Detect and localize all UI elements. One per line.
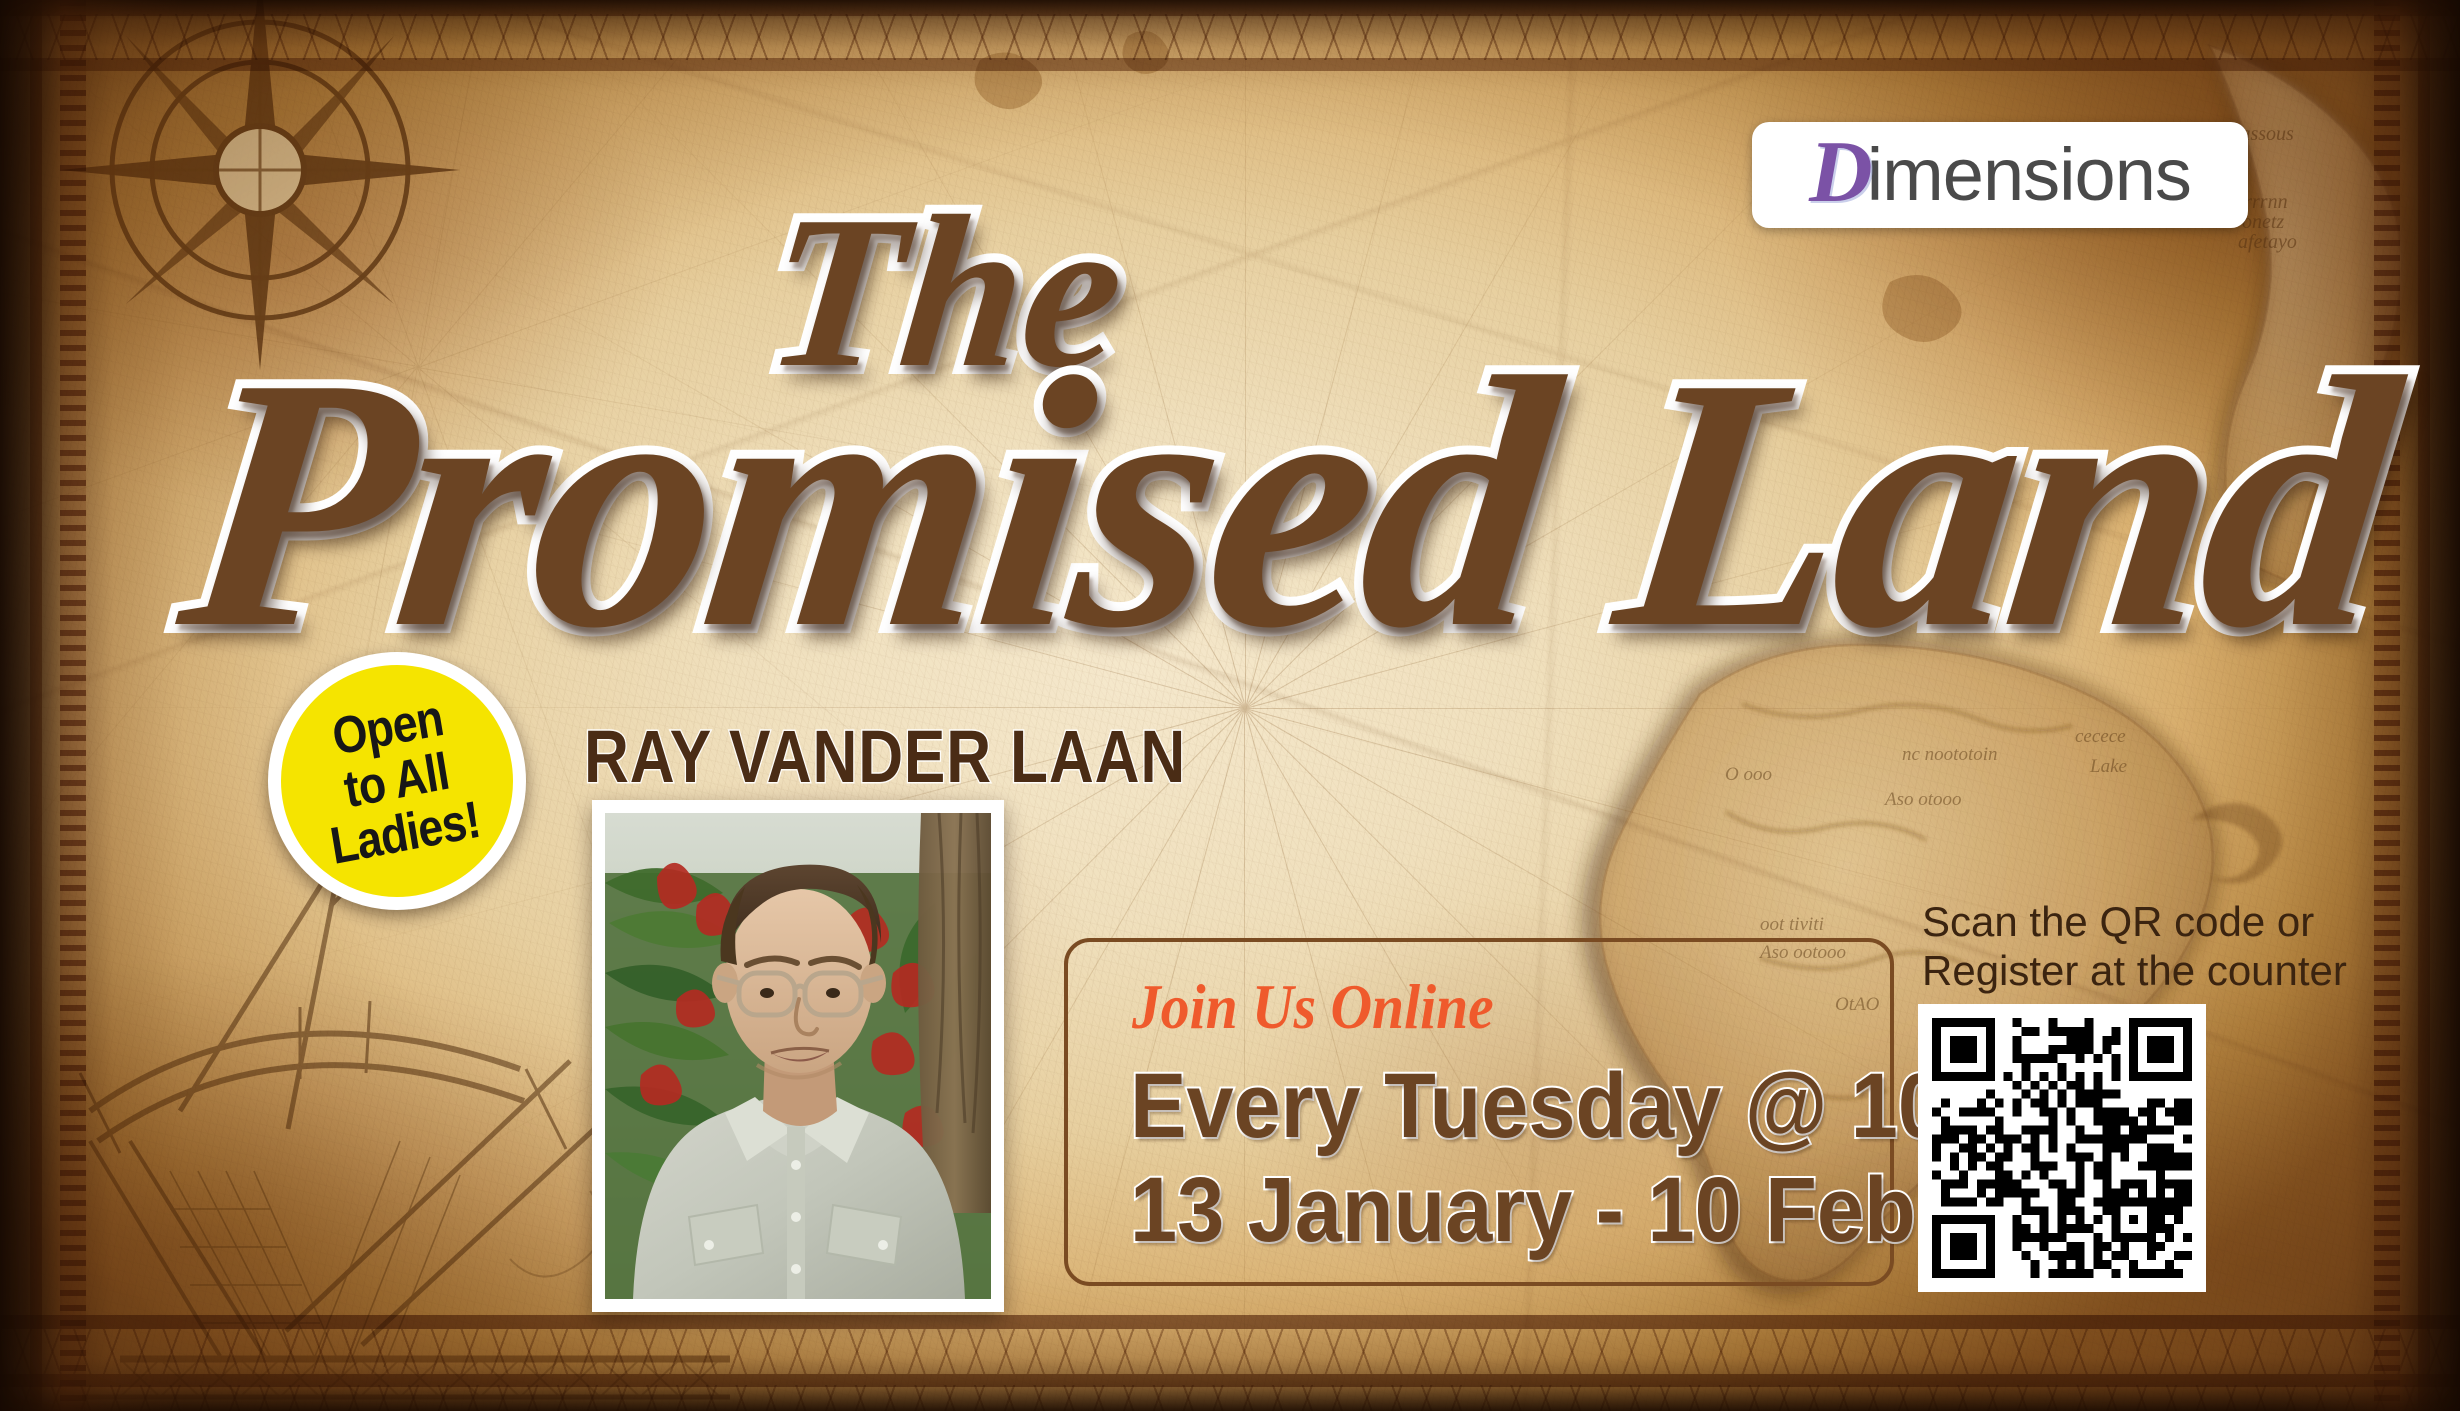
frame-strip-right <box>2418 0 2430 1411</box>
qr-code-container[interactable] <box>1918 1004 2206 1292</box>
frame-strip-left <box>30 0 42 1411</box>
border-lattice-bottom-1 <box>0 1385 2460 1411</box>
qr-code[interactable] <box>1932 1018 2192 1278</box>
dimensions-logo[interactable]: D imensions <box>1752 122 2248 228</box>
poster-canvas: nc noototoin Aso otooo O ooo oot tiviti … <box>0 0 2460 1411</box>
join-us-online-label: Join Us Online <box>1132 970 1494 1044</box>
speaker-name: RAY VANDER LAAN <box>584 714 1186 799</box>
registration-note: Scan the QR code or Register at the coun… <box>1922 898 2347 995</box>
border-lattice-bottom-2 <box>0 1329 2460 1374</box>
badge-text: Open to All Ladies! <box>310 688 484 874</box>
logo-initial-d: D <box>1809 139 1873 208</box>
speaker-photo <box>605 813 991 1299</box>
logo-wordmark: imensions <box>1867 138 2191 212</box>
event-info-panel: Join Us Online Every Tuesday @ 10am 13 J… <box>1064 938 1894 1286</box>
border-lattice-top <box>0 14 2460 60</box>
border-ticks-left <box>60 0 86 1411</box>
registration-note-line-1: Scan the QR code or <box>1922 898 2347 947</box>
speaker-photo-frame <box>592 800 1004 1312</box>
border-band-bottom-1 <box>0 1315 2460 1329</box>
speaker-portrait-illustration <box>605 813 991 1299</box>
sextant-icon <box>80 1001 566 1153</box>
registration-note-line-2: Register at the counter <box>1922 947 2347 996</box>
border-ticks-right <box>2374 0 2400 1411</box>
